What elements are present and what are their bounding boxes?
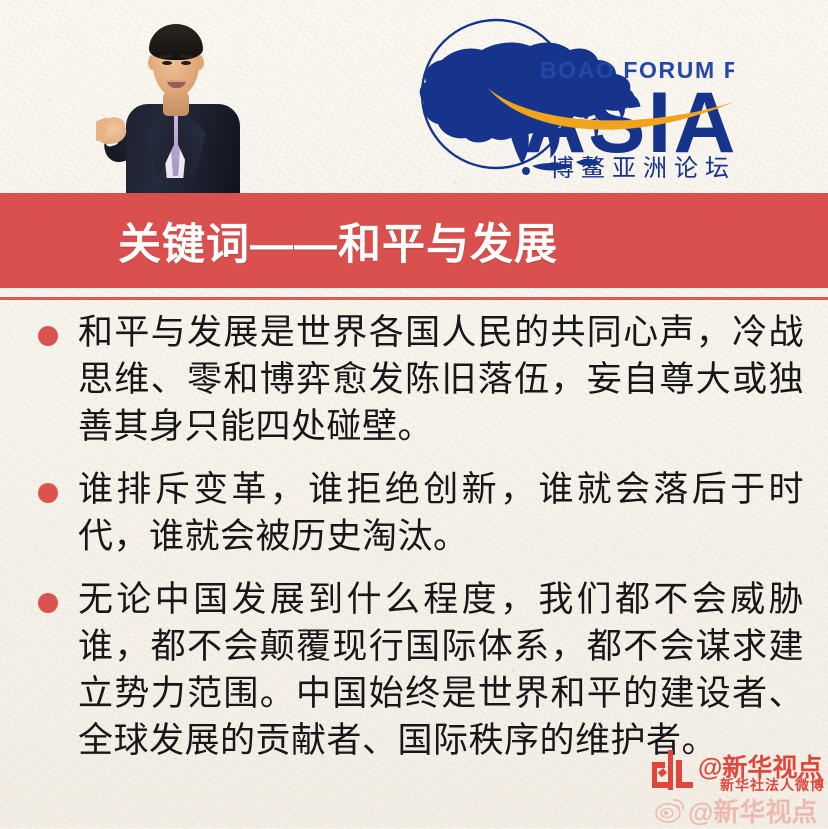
bullet-list: 和平与发展是世界各国人民的共同心声，冷战思维、零和博弈愈发陈旧落伍，妄自尊大或独… <box>0 310 828 781</box>
portrait-finger-3 <box>96 135 107 142</box>
title-divider-rule <box>0 297 828 300</box>
list-item: 和平与发展是世界各国人民的共同心声，冷战思维、零和博弈愈发陈旧落伍，妄自尊大或独… <box>0 310 828 451</box>
bullet-paragraph: 无论中国发展到什么程度，我们都不会威胁谁，都不会颠覆现行国际体系，都不会谋求建立… <box>78 577 804 765</box>
bullet-dot-icon <box>38 483 58 503</box>
logo-chinese-text: 博鳌亚洲论坛 <box>550 155 734 180</box>
list-item: 谁排斥变革，谁拒绝创新，谁就会落后于时代，谁就会被历史淘汰。 <box>0 467 828 561</box>
speaker-portrait <box>96 0 260 193</box>
portrait-hair <box>149 24 203 60</box>
boao-forum-logo: BOAO FORUM FOR ASIA 博鳌亚洲论坛 <box>404 16 734 180</box>
title-banner: 关键词——和平与发展 <box>0 193 828 288</box>
weibo-watermark: @新华视点 <box>655 793 828 827</box>
weibo-eye-icon <box>655 797 685 823</box>
xinhua-mark-icon <box>650 750 694 790</box>
bullet-dot-icon <box>38 326 58 346</box>
header: BOAO FORUM FOR ASIA 博鳌亚洲论坛 <box>0 0 828 193</box>
publisher-branding: @新华视点 新华社法人微博 <box>650 748 828 792</box>
bullet-paragraph: 谁排斥变革，谁拒绝创新，谁就会落后于时代，谁就会被历史淘汰。 <box>78 467 804 561</box>
portrait-eye-right <box>181 61 191 65</box>
bullet-paragraph: 和平与发展是世界各国人民的共同心声，冷战思维、零和博弈愈发陈旧落伍，妄自尊大或独… <box>78 310 804 451</box>
page-title: 关键词——和平与发展 <box>118 210 558 272</box>
weibo-watermark-text: @新华视点 <box>688 792 817 829</box>
portrait-eye-left <box>162 61 172 65</box>
list-item: 无论中国发展到什么程度，我们都不会威胁谁，都不会颠覆现行国际体系，都不会谋求建立… <box>0 577 828 765</box>
bullet-dot-icon <box>38 593 58 613</box>
